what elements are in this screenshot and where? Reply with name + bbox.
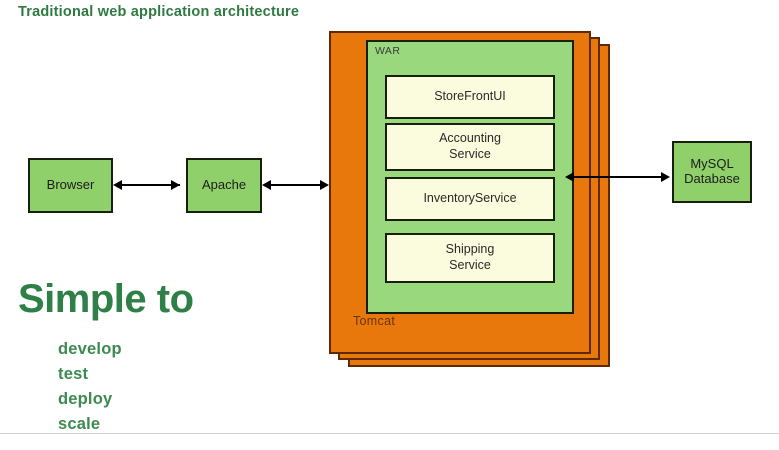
arrow-tomcat-database-line xyxy=(572,176,664,178)
arrow-tomcat-database-head-right xyxy=(661,172,670,182)
arrow-apache-tomcat-head-right xyxy=(320,180,329,190)
arrow-apache-tomcat-line xyxy=(269,184,327,186)
service-label: StoreFrontUI xyxy=(434,89,506,105)
node-label: Apache xyxy=(202,178,246,193)
benefits-list-item: deploy xyxy=(58,387,122,412)
service-label-line1: Accounting xyxy=(439,131,501,147)
arrow-apache-tomcat-head-left xyxy=(262,180,271,190)
diagram-canvas: Traditional web application architecture… xyxy=(0,0,779,450)
benefits-list-item: develop xyxy=(58,337,122,362)
service-box-inventoryservice: InventoryService xyxy=(385,177,555,221)
node-mysql-database: MySQL Database xyxy=(672,141,752,203)
node-label: Browser xyxy=(47,178,95,193)
arrow-browser-apache-head-left xyxy=(113,180,122,190)
arrow-browser-apache-head-right xyxy=(171,180,180,190)
node-label-line2: Database xyxy=(684,172,740,187)
benefits-list: develop test deploy scale xyxy=(58,337,122,437)
benefits-list-item: test xyxy=(58,362,122,387)
page-title: Traditional web application architecture xyxy=(18,4,299,20)
node-label-line1: MySQL xyxy=(690,157,733,172)
arrow-tomcat-database-head-left xyxy=(565,172,574,182)
node-browser: Browser xyxy=(28,158,113,213)
service-label-line2: Service xyxy=(449,147,491,163)
node-apache: Apache xyxy=(186,158,262,213)
benefits-heading: Simple to xyxy=(18,277,194,322)
service-label: InventoryService xyxy=(423,191,516,207)
service-label-line1: Shipping xyxy=(446,242,495,258)
war-label: WAR xyxy=(375,45,400,57)
bottom-divider xyxy=(0,433,779,434)
service-box-accounting-service: Accounting Service xyxy=(385,123,555,171)
service-box-storefrontui: StoreFrontUI xyxy=(385,75,555,119)
tomcat-label: Tomcat xyxy=(353,314,395,328)
service-label-line2: Service xyxy=(449,258,491,274)
service-box-shipping-service: Shipping Service xyxy=(385,233,555,283)
